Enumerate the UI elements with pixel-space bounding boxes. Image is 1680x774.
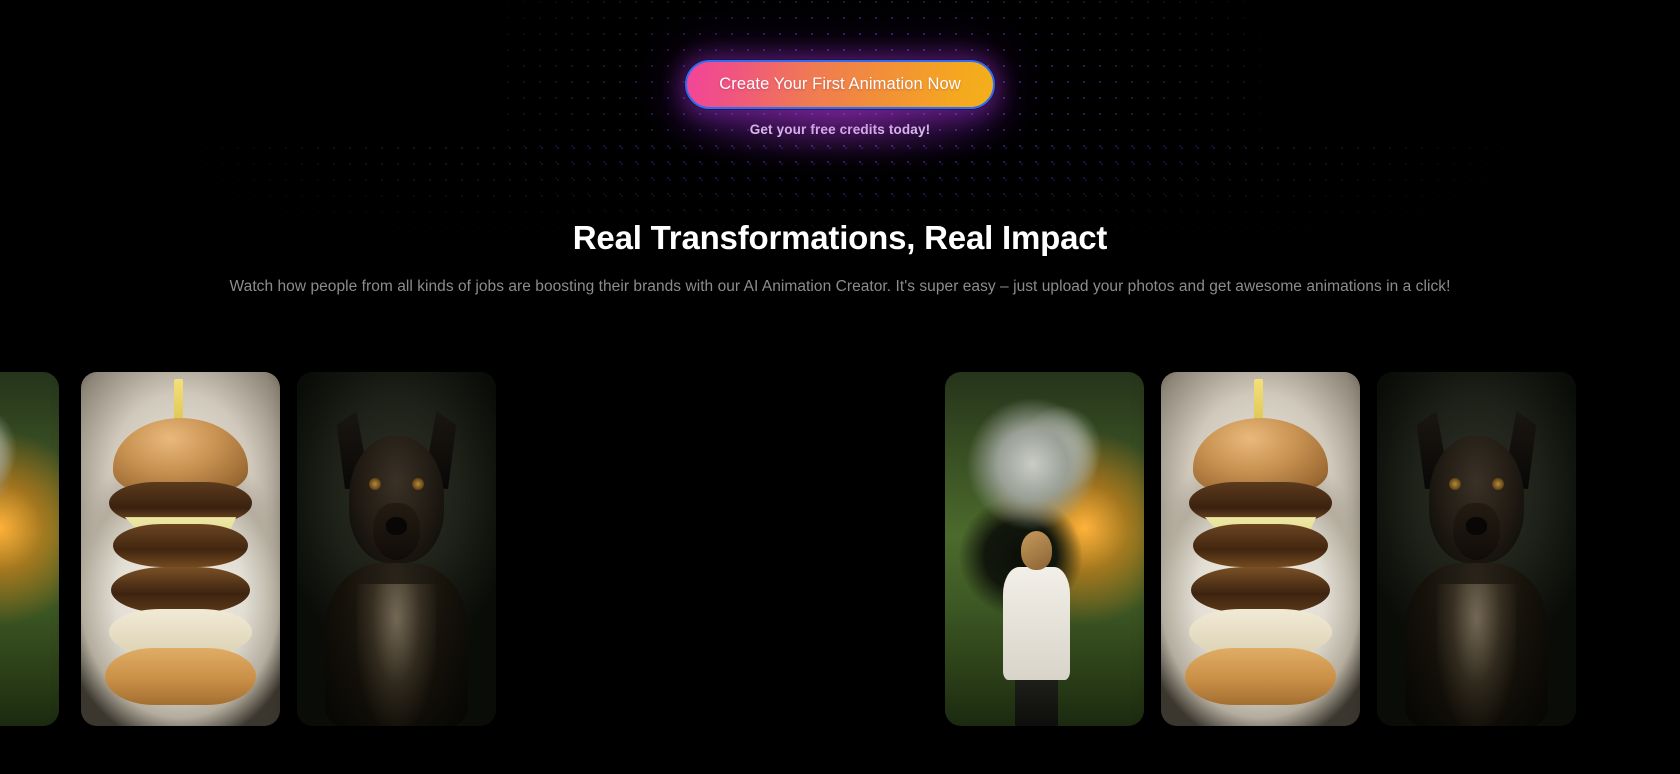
dog-chest-shape — [1437, 584, 1517, 726]
dog-eye-shape — [369, 478, 381, 490]
carousel-card-german-shepherd-2[interactable] — [1377, 372, 1576, 726]
cta-section: Create Your First Animation Now Get your… — [0, 60, 1680, 137]
boy-legs-shape — [1015, 673, 1059, 726]
create-animation-button-label: Create Your First Animation Now — [719, 75, 961, 94]
bun-bottom-shape — [1185, 648, 1336, 705]
dog-eye-shape — [1449, 478, 1461, 490]
german-shepherd-image-2 — [1377, 372, 1576, 726]
carousel-card-smoke-explosion-field[interactable] — [0, 372, 59, 726]
section-title: Real Transformations, Real Impact — [0, 218, 1680, 258]
dog-nose-shape — [1466, 517, 1488, 535]
patty-shape — [111, 567, 250, 613]
patty-shape — [1193, 524, 1328, 566]
page-root: Create Your First Animation Now Get your… — [0, 0, 1680, 774]
carousel-card-stacked-burger[interactable] — [81, 372, 280, 726]
boy-explosion-image — [945, 372, 1144, 726]
patty-shape — [1191, 567, 1330, 613]
stacked-burger-image-2 — [1161, 372, 1360, 726]
boy-body-shape — [1003, 567, 1071, 680]
section-header: Real Transformations, Real Impact Watch … — [0, 218, 1680, 298]
carousel-card-boy-watching-explosion[interactable] — [945, 372, 1144, 726]
free-credits-subtext: Get your free credits today! — [750, 122, 931, 137]
boy-head-shape — [1021, 531, 1053, 570]
german-shepherd-image — [297, 372, 496, 726]
stacked-burger-image — [81, 372, 280, 726]
dog-nose-shape — [386, 517, 408, 535]
smoke-explosion-image — [0, 372, 59, 726]
testimonial-carousel[interactable] — [0, 372, 1680, 726]
carousel-card-german-shepherd[interactable] — [297, 372, 496, 726]
bun-bottom-shape — [105, 648, 256, 705]
carousel-card-stacked-burger-2[interactable] — [1161, 372, 1360, 726]
patty-shape — [113, 524, 248, 566]
dog-chest-shape — [357, 584, 437, 726]
section-subtitle: Watch how people from all kinds of jobs … — [0, 276, 1680, 298]
create-animation-button[interactable]: Create Your First Animation Now — [685, 60, 995, 109]
